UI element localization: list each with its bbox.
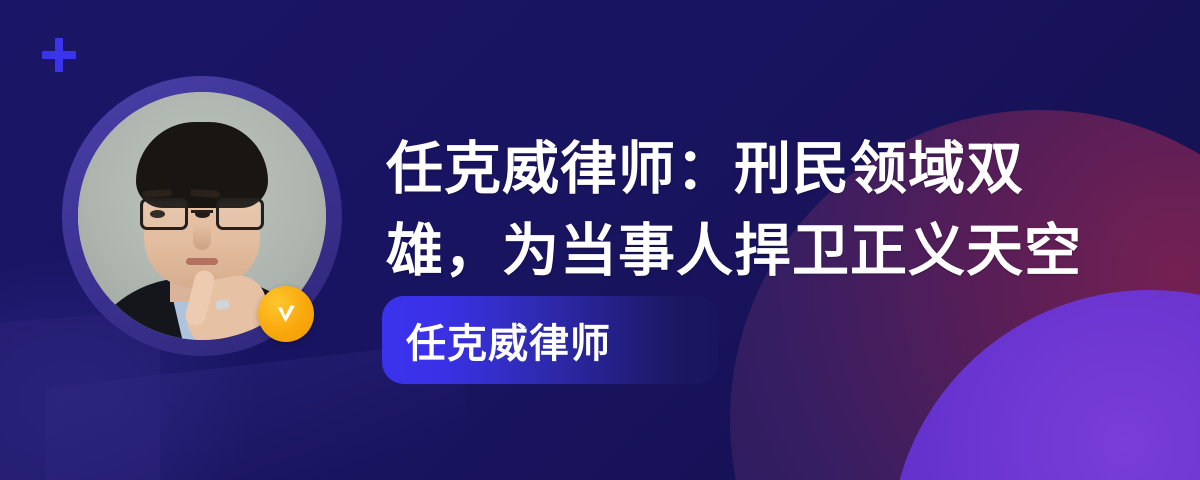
video-thumbnail-card: 任克威律师 任克威律师：刑民领域双雄，为当事人捍卫正义天空 <box>0 0 1200 480</box>
author-pill-badge[interactable]: 任克威律师 <box>382 296 718 384</box>
author-name-label: 任克威律师 <box>382 311 611 369</box>
avatar[interactable] <box>62 76 342 356</box>
plus-icon <box>42 38 76 72</box>
verified-check-icon <box>258 286 314 342</box>
